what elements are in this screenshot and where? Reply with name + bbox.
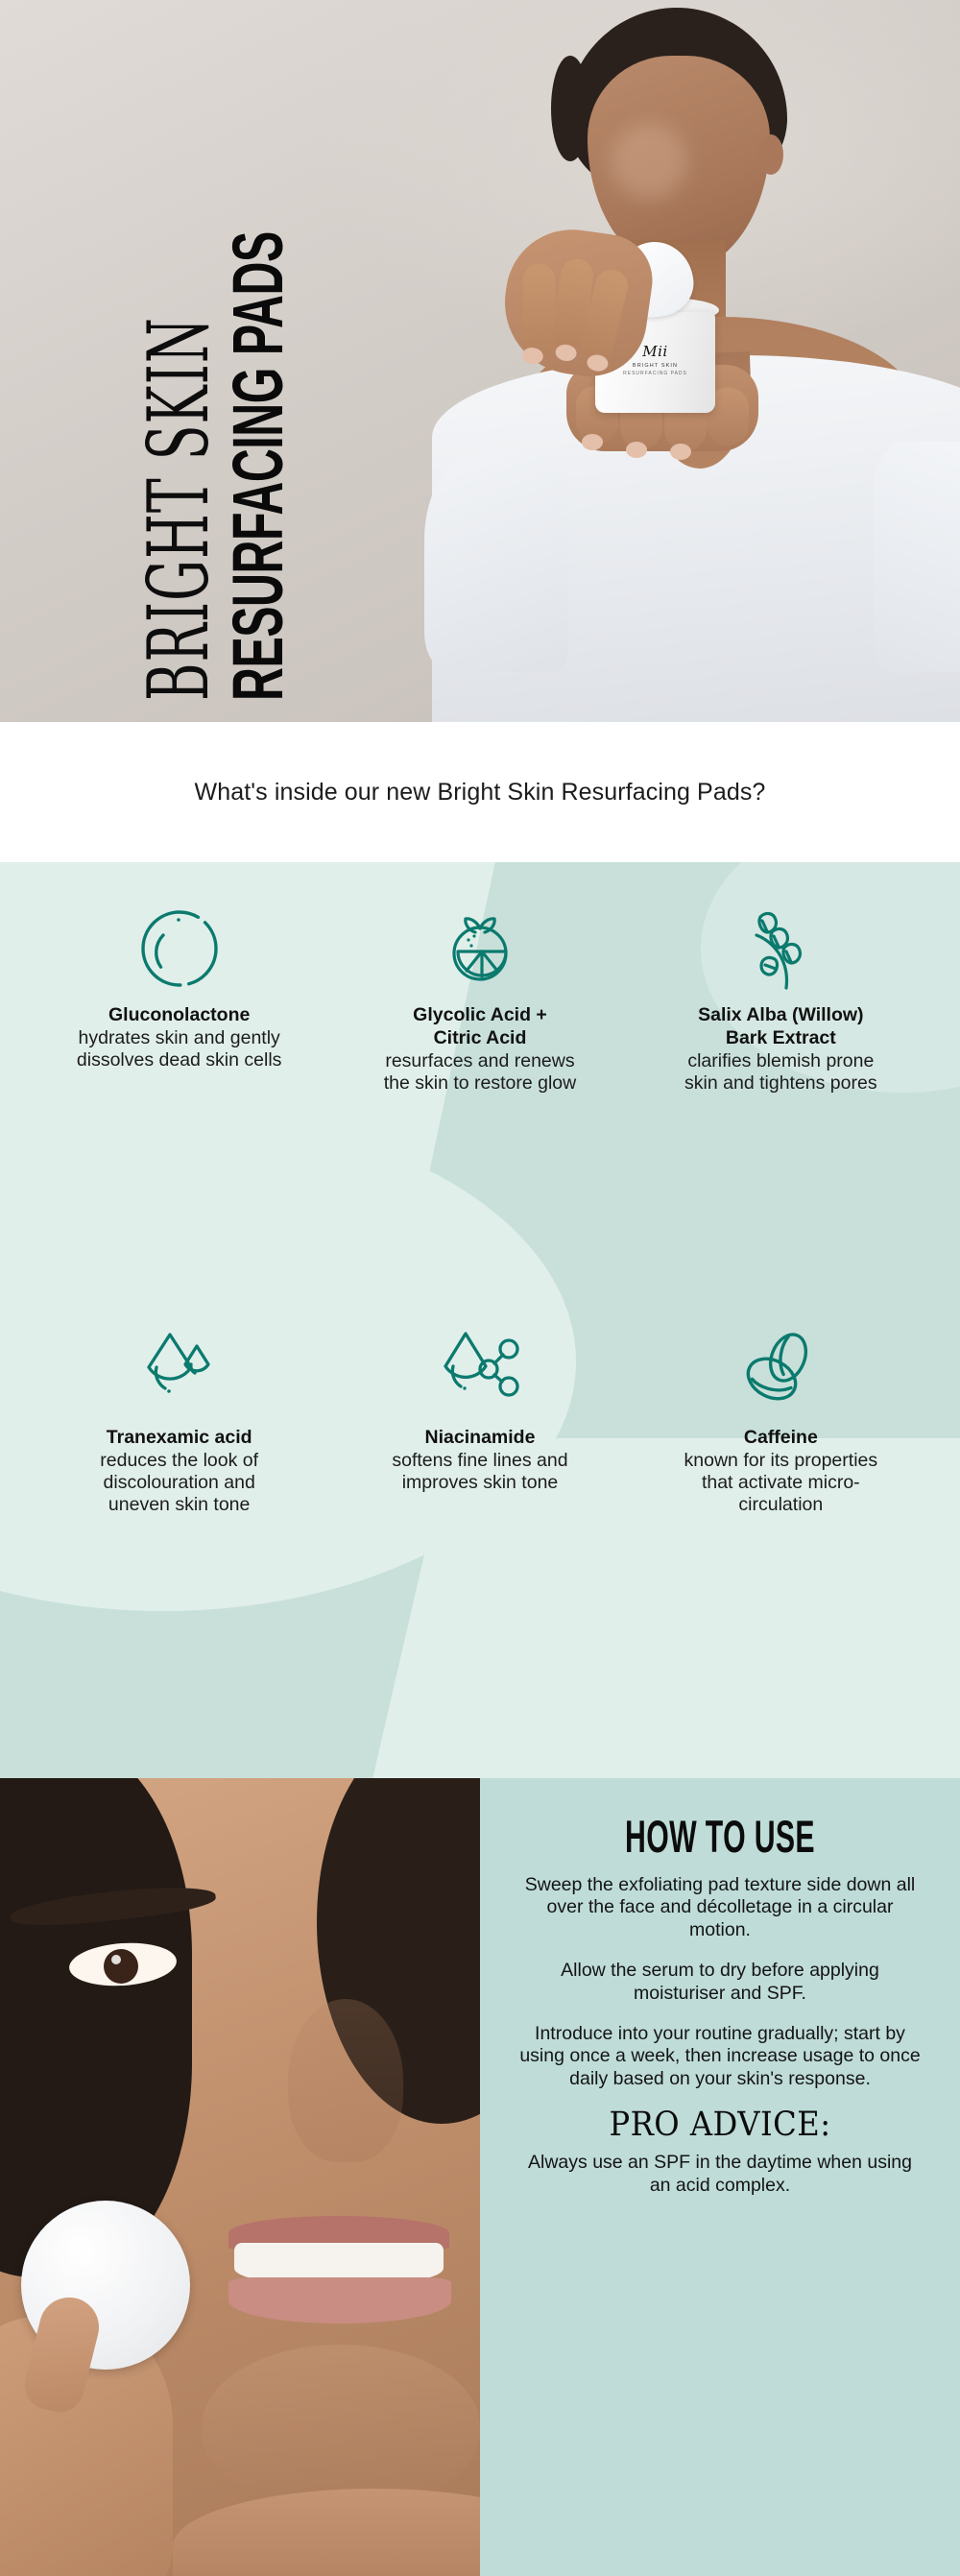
citrus-fruit-icon xyxy=(437,904,523,993)
ingredient-description: softens fine lines and improves skin ton… xyxy=(373,1450,587,1494)
closeup-shoulder xyxy=(173,2489,480,2576)
broken-circle-icon xyxy=(138,904,221,993)
ingredient-name: Niacinamide xyxy=(425,1427,536,1449)
pro-advice-text: Always use an SPF in the daytime when us… xyxy=(518,2152,922,2197)
hero-section: Mii BRIGHT SKIN RESURFACING PADS BRIGHT … xyxy=(0,0,960,722)
droplet-molecule-icon xyxy=(435,1327,525,1415)
closeup-chin xyxy=(202,2345,480,2508)
closeup-nose xyxy=(288,1999,403,2162)
model-ear xyxy=(758,134,783,175)
how-to-use-section: HOW TO USE Sweep the exfoliating pad tex… xyxy=(0,1778,960,2576)
closeup-lower-lip xyxy=(228,2277,451,2323)
ingredient-description: hydrates skin and gently dissolves dead … xyxy=(73,1027,286,1071)
ingredients-section: Gluconolactone hydrates skin and gently … xyxy=(0,862,960,1778)
ingredient-card-tranexamic-acid: Tranexamic acid reduces the look of disc… xyxy=(29,1327,329,1749)
how-to-use-panel: HOW TO USE Sweep the exfoliating pad tex… xyxy=(480,1778,960,2576)
ingredient-description: clarifies blemish prone skin and tighten… xyxy=(674,1050,887,1095)
model-sleeve-right xyxy=(874,442,960,672)
ingredient-description: reduces the look of discolouration and u… xyxy=(73,1450,286,1517)
ingredient-card-niacinamide: Niacinamide softens fine lines and impro… xyxy=(329,1327,630,1749)
how-to-use-step-3: Introduce into your routine gradually; s… xyxy=(518,2023,922,2090)
ingredient-name-line1: Glycolic Acid + xyxy=(413,1004,547,1026)
how-to-use-heading: HOW TO USE xyxy=(575,1815,865,1860)
willow-branch-icon xyxy=(739,904,822,993)
hero-title: BRIGHT SKIN RESURFACING PADS xyxy=(13,0,196,722)
ingredient-name-line2: Citric Acid xyxy=(434,1027,527,1049)
ingredient-name: Caffeine xyxy=(744,1427,818,1449)
ingredient-card-salix-alba: Salix Alba (Willow) Bark Extract clarifi… xyxy=(631,904,931,1327)
model-closeup-photo xyxy=(0,1778,480,2576)
ingredient-card-glycolic-citric: Glycolic Acid + Citric Acid resurfaces a… xyxy=(329,904,630,1327)
pro-advice-heading: PRO ADVICE: xyxy=(535,2108,905,2142)
how-to-use-step-2: Allow the serum to dry before applying m… xyxy=(518,1960,922,2005)
ingredients-grid: Gluconolactone hydrates skin and gently … xyxy=(0,862,960,1778)
ingredient-name-line1: Salix Alba (Willow) xyxy=(698,1004,863,1026)
closeup-iris xyxy=(104,1949,138,1984)
infographic-page: Mii BRIGHT SKIN RESURFACING PADS BRIGHT … xyxy=(0,0,960,2576)
hero-title-line2: RESURFACING PADS xyxy=(227,231,294,701)
product-label-line2: RESURFACING PADS xyxy=(595,371,715,376)
model-photo: Mii BRIGHT SKIN RESURFACING PADS xyxy=(278,0,960,722)
ingredient-name: Tranexamic acid xyxy=(107,1427,252,1449)
coffee-beans-icon xyxy=(737,1327,824,1415)
ingredient-name: Gluconolactone xyxy=(108,1004,250,1026)
hero-title-line1: BRIGHT SKIN xyxy=(140,216,220,701)
question-band: What's inside our new Bright Skin Resurf… xyxy=(0,722,960,862)
model-sleeve-left xyxy=(424,451,568,672)
ingredient-card-caffeine: Caffeine known for its properties that a… xyxy=(631,1327,931,1749)
question-text: What's inside our new Bright Skin Resurf… xyxy=(195,779,766,807)
ingredient-name-line2: Bark Extract xyxy=(726,1027,836,1049)
water-droplets-icon xyxy=(137,1327,222,1415)
ingredient-description: known for its properties that activate m… xyxy=(674,1450,887,1517)
how-to-use-step-1: Sweep the exfoliating pad texture side d… xyxy=(518,1874,922,1941)
ingredient-card-gluconolactone: Gluconolactone hydrates skin and gently … xyxy=(29,904,329,1327)
ingredient-description: resurfaces and renews the skin to restor… xyxy=(373,1050,587,1095)
